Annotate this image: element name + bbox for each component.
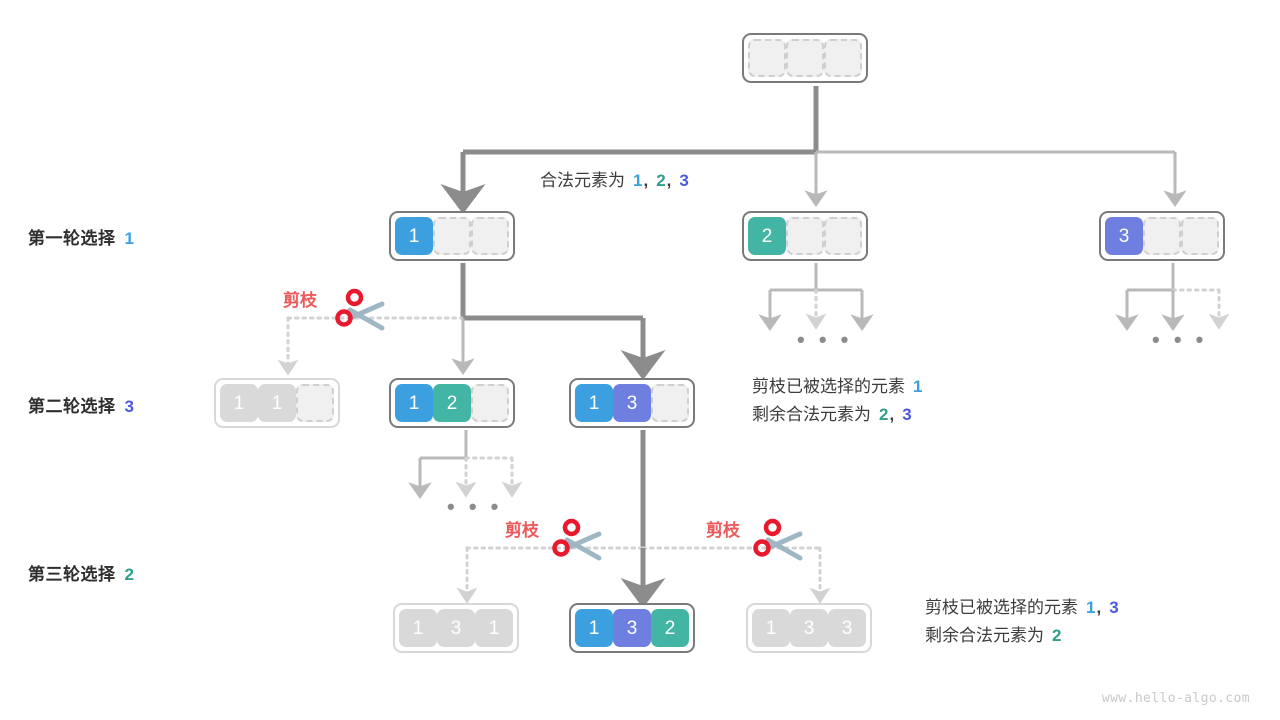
edge-node2-subtree (770, 263, 862, 322)
node-r3-c3-cell-2: 3 (828, 609, 866, 647)
annotation-note-row2-line2: 剩余合法元素为2,3 (752, 401, 923, 429)
prune-label-row3-right: 剪枝 (706, 516, 740, 541)
ellipsis-under-node-12: • • • (447, 494, 502, 520)
annotation-note-row3-line2-label: 剩余合法元素为 (925, 626, 1044, 645)
node-r3-c1-cell-0: 1 (399, 609, 437, 647)
prune-label-row2: 剪枝 (283, 286, 317, 311)
node-r3-c1-cell-1: 3 (437, 609, 475, 647)
node-r1-c2-cell-2 (824, 217, 862, 255)
node-r2-c2-cell-2 (471, 384, 509, 422)
node-r1-c1-cell-2 (471, 217, 509, 255)
node-r3-c1-cell-2: 1 (475, 609, 513, 647)
node-r3-c2-cell-0: 1 (575, 609, 613, 647)
node-r2-c1-cell-0: 1 (220, 384, 258, 422)
annotation-legal-value-0: 1 (633, 171, 642, 190)
annotation-note-row3-line1-label: 剪枝已被选择的元素 (925, 598, 1078, 617)
node-r2-c1-pruned[interactable]: 1 1 (214, 378, 340, 428)
node-r1-c1[interactable]: 1 (389, 211, 515, 261)
node-r1-c3-cell-2 (1181, 217, 1219, 255)
row-label-round-2-value: 3 (125, 397, 135, 416)
row-label-round-3: 第三轮选择2 (28, 560, 134, 585)
annotation-note-row2-line1-value-0: 1 (913, 377, 922, 396)
annotation-legal-elements: 合法元素为1,2,3 (540, 167, 690, 195)
row-label-round-3-text: 第三轮选择 (28, 565, 116, 584)
node-r2-c2-cell-1: 2 (433, 384, 471, 422)
edge-node12-subtree (420, 430, 512, 490)
annotation-note-row3-line2: 剩余合法元素为2 (925, 622, 1120, 650)
row-label-round-2: 第二轮选择3 (28, 392, 134, 417)
node-r2-c1-cell-1: 1 (258, 384, 296, 422)
node-r3-c2-cell-1: 3 (613, 609, 651, 647)
node-r3-c1-pruned[interactable]: 1 3 1 (393, 603, 519, 653)
annotation-legal-value-1: 2 (656, 171, 665, 190)
node-r1-c2-cell-1 (786, 217, 824, 255)
annotation-note-row3: 剪枝已被选择的元素1,3 剩余合法元素为2 (925, 594, 1120, 650)
node-r2-c3-cell-2 (651, 384, 689, 422)
annotation-note-row3-line1-value-0: 1 (1086, 598, 1095, 617)
annotation-legal-label: 合法元素为 (540, 171, 625, 190)
node-root-cell-0 (748, 39, 786, 77)
row-label-round-1-value: 1 (125, 229, 135, 248)
node-r1-c3[interactable]: 3 (1099, 211, 1225, 261)
edge-node3-subtree (1127, 263, 1219, 322)
node-r3-c3-cell-0: 1 (752, 609, 790, 647)
scissors-icon-row3-left (549, 518, 605, 572)
diagram-canvas: 第一轮选择1 第二轮选择3 第三轮选择2 1 2 3 1 1 1 2 1 (0, 0, 1280, 720)
ellipsis-under-node-3: • • • (1152, 327, 1207, 353)
node-r1-c2[interactable]: 2 (742, 211, 868, 261)
node-r2-c3-cell-1: 3 (613, 384, 651, 422)
node-r3-c2-cell-2: 2 (651, 609, 689, 647)
annotation-legal-value-2: 3 (679, 171, 688, 190)
annotation-note-row3-line1: 剪枝已被选择的元素1,3 (925, 594, 1120, 622)
node-r3-c3-pruned[interactable]: 1 3 3 (746, 603, 872, 653)
scissors-icon-row2 (332, 288, 388, 342)
node-r2-c2[interactable]: 1 2 (389, 378, 515, 428)
row-label-round-1-text: 第一轮选择 (28, 229, 116, 248)
node-root-cell-2 (824, 39, 862, 77)
prune-label-row3-left: 剪枝 (505, 516, 539, 541)
node-r3-c3-cell-1: 3 (790, 609, 828, 647)
annotation-note-row2-line2-value-1: 3 (902, 405, 911, 424)
annotation-note-row2-line1: 剪枝已被选择的元素1 (752, 373, 923, 401)
node-r2-c3-cell-0: 1 (575, 384, 613, 422)
node-r1-c3-cell-0: 3 (1105, 217, 1143, 255)
node-r2-c1-cell-2 (296, 384, 334, 422)
node-r1-c1-cell-0: 1 (395, 217, 433, 255)
annotation-note-row2-line2-label: 剩余合法元素为 (752, 405, 871, 424)
row-label-round-2-text: 第二轮选择 (28, 397, 116, 416)
node-r1-c2-cell-0: 2 (748, 217, 786, 255)
ellipsis-under-node-2: • • • (797, 327, 852, 353)
annotation-note-row2-line1-label: 剪枝已被选择的元素 (752, 377, 905, 396)
node-r2-c3[interactable]: 1 3 (569, 378, 695, 428)
annotation-note-row3-line2-value-0: 2 (1052, 626, 1061, 645)
node-r1-c1-cell-1 (433, 217, 471, 255)
scissors-icon-row3-right (750, 518, 806, 572)
node-root[interactable] (742, 33, 868, 83)
watermark: www.hello-algo.com (1102, 691, 1250, 706)
node-r3-c2[interactable]: 1 3 2 (569, 603, 695, 653)
node-r2-c2-cell-0: 1 (395, 384, 433, 422)
annotation-note-row2-line2-value-0: 2 (879, 405, 888, 424)
annotation-note-row2: 剪枝已被选择的元素1 剩余合法元素为2,3 (752, 373, 923, 429)
annotation-note-row3-line1-value-1: 3 (1109, 598, 1118, 617)
node-root-cell-1 (786, 39, 824, 77)
row-label-round-1: 第一轮选择1 (28, 224, 134, 249)
row-label-round-3-value: 2 (125, 565, 135, 584)
node-r1-c3-cell-1 (1143, 217, 1181, 255)
